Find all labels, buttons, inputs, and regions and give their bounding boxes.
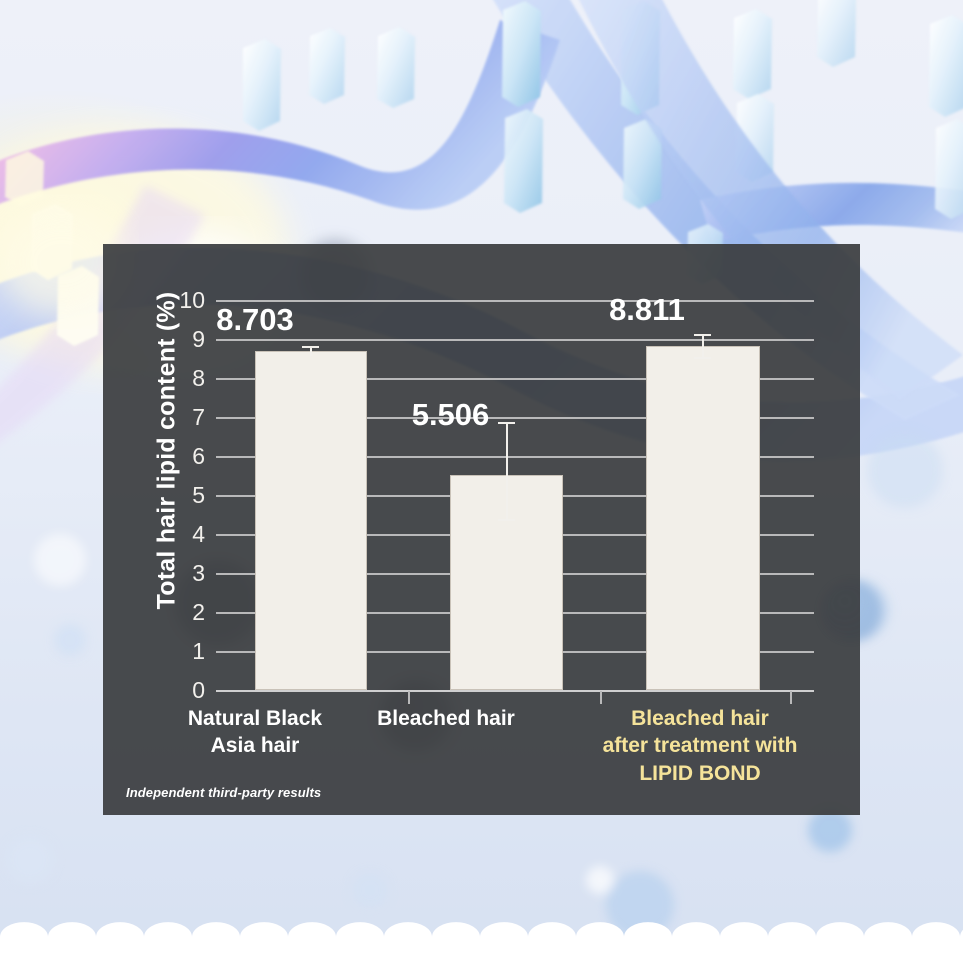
error-bar-2 (506, 422, 508, 519)
y-tick-label: 6 (165, 445, 205, 468)
bar-bleached-hair-lipid-bond[interactable] (646, 346, 760, 690)
category-line: Asia hair (160, 732, 350, 759)
error-bar-3 (702, 334, 704, 358)
error-bar-cap-2-lower (498, 519, 515, 521)
scalloped-bottom-edge (0, 901, 963, 963)
infographic-stage: Total hair lipid content (%) 10 9 8 7 6 … (0, 0, 963, 963)
y-tick-label: 3 (165, 562, 205, 585)
x-axis-line (216, 690, 814, 692)
chart-footnote: Independent third-party results (126, 785, 321, 800)
bar-natural-black-asia-hair[interactable] (255, 351, 367, 690)
value-label-bleached-hair: 5.506 (394, 397, 507, 433)
y-tick-label: 8 (165, 367, 205, 390)
x-axis-tick (600, 691, 602, 704)
y-tick-label: 1 (165, 640, 205, 663)
category-line: Natural Black (160, 705, 350, 732)
y-tick-label: 4 (165, 523, 205, 546)
value-label-natural-black-asia-hair: 8.703 (199, 302, 311, 338)
category-line: LIPID BOND (586, 760, 814, 787)
category-line: Bleached hair (351, 705, 541, 732)
y-tick-label: 0 (165, 679, 205, 702)
x-axis-tick (790, 691, 792, 704)
category-label-bleached-hair-lipid-bond: Bleached hair after treatment with LIPID… (586, 705, 814, 787)
y-tick-label: 7 (165, 406, 205, 429)
category-line: after treatment with (586, 732, 814, 759)
value-label-bleached-hair-lipid-bond: 8.811 (590, 292, 704, 328)
error-bar-cap-3-lower (694, 357, 711, 359)
y-tick-label: 2 (165, 601, 205, 624)
gridline (216, 339, 814, 341)
y-tick-label: 5 (165, 484, 205, 507)
x-axis-tick (408, 691, 410, 704)
chart-panel: Total hair lipid content (%) 10 9 8 7 6 … (103, 244, 860, 815)
category-label-bleached-hair: Bleached hair (351, 705, 541, 732)
category-line: Bleached hair (586, 705, 814, 732)
error-bar-cap-3 (694, 334, 711, 336)
bar-chart: Total hair lipid content (%) 10 9 8 7 6 … (103, 244, 860, 815)
category-label-natural-black-asia-hair: Natural Black Asia hair (160, 705, 350, 760)
error-bar-cap-1 (302, 346, 319, 348)
